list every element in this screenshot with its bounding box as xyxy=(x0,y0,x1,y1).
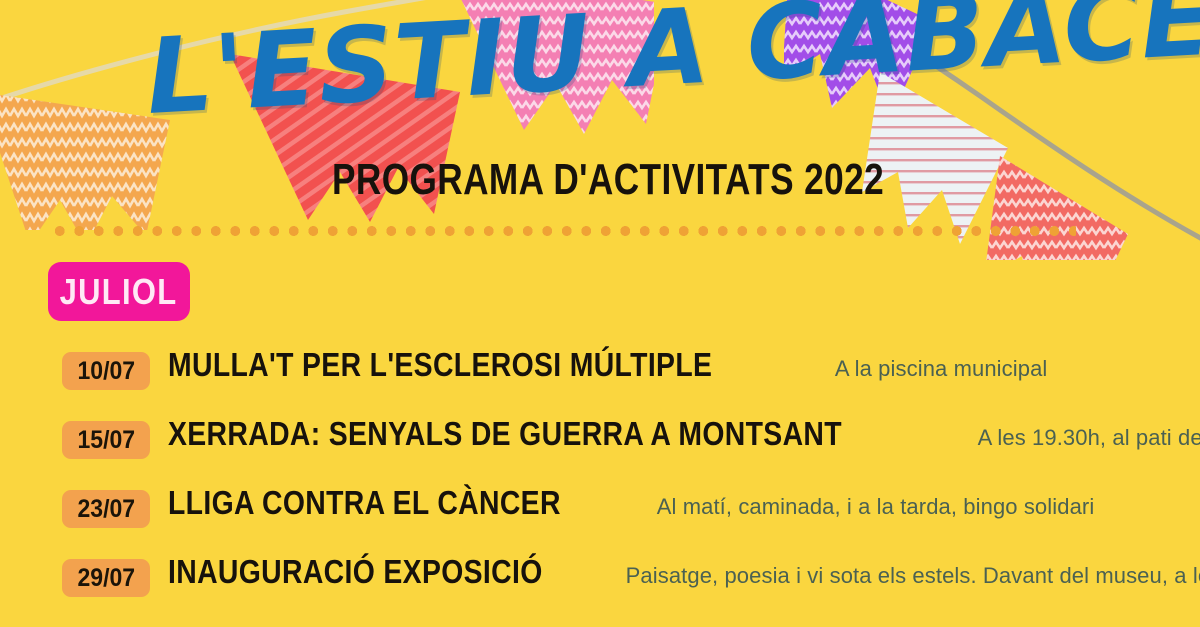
poster-title: L'ESTIU A CABACÉS xyxy=(143,0,1200,138)
event-date-label: 15/07 xyxy=(77,426,135,455)
event-date-badge: 29/07 xyxy=(62,559,150,597)
event-date-label: 10/07 xyxy=(77,357,135,386)
flag-coral-zigzag xyxy=(984,156,1128,260)
headline-group: L'ESTIU A CABACÉS xyxy=(0,8,1200,158)
event-date-label: 29/07 xyxy=(77,564,135,593)
event-date-badge: 10/07 xyxy=(62,352,150,390)
event-title: MULLA'T PER L'ESCLEROSI MÚLTIPLE xyxy=(168,346,712,384)
event-description: Al matí, caminada, i a la tarda, bingo s… xyxy=(657,494,1095,520)
event-row: 23/07 LLIGA CONTRA EL CÀNCER Al matí, ca… xyxy=(0,484,1200,553)
event-row-partial xyxy=(0,622,1200,627)
event-description: A la piscina municipal xyxy=(835,356,1048,382)
month-badge-juliol: JULIOL xyxy=(48,262,190,321)
event-row: 29/07 INAUGURACIÓ EXPOSICIÓ Paisatge, po… xyxy=(0,553,1200,622)
event-date-badge: 15/07 xyxy=(62,421,150,459)
event-body: MULLA'T PER L'ESCLEROSI MÚLTIPLE A la pi… xyxy=(168,346,1047,384)
poster-subtitle: PROGRAMA D'ACTIVITATS 2022 xyxy=(332,155,884,205)
event-title: INAUGURACIÓ EXPOSICIÓ xyxy=(168,553,543,591)
event-title: XERRADA: SENYALS DE GUERRA A MONTSANT xyxy=(168,415,842,453)
event-description: A les 19.30h, al pati de l'escola xyxy=(978,425,1200,451)
month-badge-label: JULIOL xyxy=(60,271,178,313)
event-row: 10/07 MULLA'T PER L'ESCLEROSI MÚLTIPLE A… xyxy=(0,346,1200,415)
event-body: INAUGURACIÓ EXPOSICIÓ Paisatge, poesia i… xyxy=(168,553,1200,591)
event-date-badge: 23/07 xyxy=(62,490,150,528)
event-title: LLIGA CONTRA EL CÀNCER xyxy=(168,484,561,522)
poster-canvas: L'ESTIU A CABACÉS PROGRAMA D'ACTIVITATS … xyxy=(0,0,1200,627)
event-list: 10/07 MULLA'T PER L'ESCLEROSI MÚLTIPLE A… xyxy=(0,346,1200,627)
event-body: LLIGA CONTRA EL CÀNCER Al matí, caminada… xyxy=(168,484,1094,522)
event-date-label: 23/07 xyxy=(77,495,135,524)
event-description: Paisatge, poesia i vi sota els estels. D… xyxy=(626,563,1200,589)
event-body: XERRADA: SENYALS DE GUERRA A MONTSANT A … xyxy=(168,415,1200,453)
event-row: 15/07 XERRADA: SENYALS DE GUERRA A MONTS… xyxy=(0,415,1200,484)
dotted-divider xyxy=(50,226,1076,236)
